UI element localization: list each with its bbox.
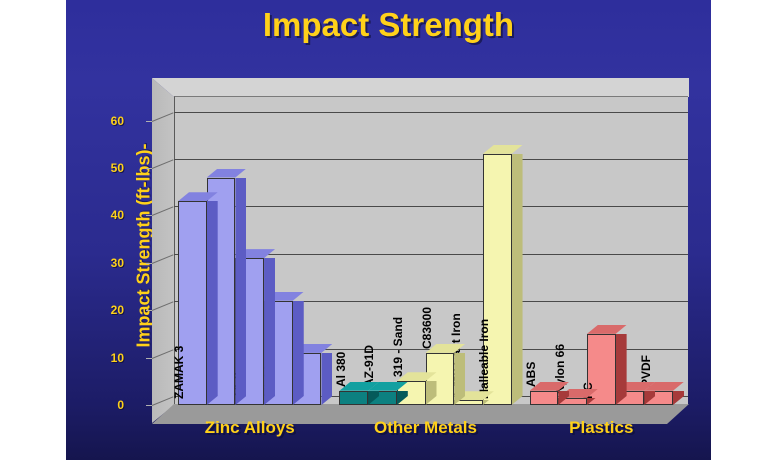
bar-label: Malleable Iron <box>477 319 491 399</box>
bar-label: AZ-91D <box>362 345 376 387</box>
y-tick-label-10: 10 <box>98 351 124 365</box>
bar-label: ZAMAK 3 <box>172 346 186 399</box>
y-tick-label-30: 30 <box>98 256 124 270</box>
bar-side-face <box>235 178 246 405</box>
y-tick-mark <box>146 215 152 216</box>
bar-front-face <box>530 391 559 405</box>
gridline <box>174 206 688 207</box>
bar-label: ABS <box>524 361 538 386</box>
bar-side-face <box>616 334 627 405</box>
y-tick-mark <box>146 263 152 264</box>
bar-label: Al 380 <box>334 351 348 386</box>
chart-plot-area: 6050403020100 ZAMAK 3ZAMAK 5ZA-8ZA-12ZA-… <box>66 0 711 460</box>
category-label-0: Zinc Alloys <box>170 418 330 438</box>
y-tick-label-40: 40 <box>98 208 124 222</box>
category-label-2: Plastics <box>521 418 681 438</box>
bar: ABS <box>530 391 559 405</box>
category-label-1: Other Metals <box>346 418 506 438</box>
slide-canvas: Impact Strength Impact Strength (ft-lbs)… <box>66 0 711 460</box>
bar: Al 380 <box>339 391 368 405</box>
gridline <box>174 112 688 113</box>
y-tick-mark <box>146 310 152 311</box>
plot-ceiling <box>152 78 689 97</box>
bar-side-face <box>321 353 332 405</box>
bar-side-face <box>454 353 465 405</box>
bar-label: 319 - Sand <box>391 317 405 377</box>
bar: ZAMAK 3 <box>178 201 207 405</box>
y-tick-mark <box>146 405 152 406</box>
bar-side-face <box>264 258 275 405</box>
bar-side-face <box>512 154 523 405</box>
gridline <box>174 159 688 160</box>
bar-front-face <box>339 391 368 405</box>
y-tick-label-0: 0 <box>98 398 124 412</box>
y-tick-mark <box>146 168 152 169</box>
bar: Malleable Iron <box>483 154 512 405</box>
bar-side-face <box>207 201 218 405</box>
bar-side-face <box>293 301 304 405</box>
y-tick-mark <box>146 121 152 122</box>
bar-label: C83600 <box>420 307 434 349</box>
y-tick-label-50: 50 <box>98 161 124 175</box>
y-tick-label-60: 60 <box>98 114 124 128</box>
y-tick-mark <box>146 358 152 359</box>
y-tick-label-20: 20 <box>98 303 124 317</box>
